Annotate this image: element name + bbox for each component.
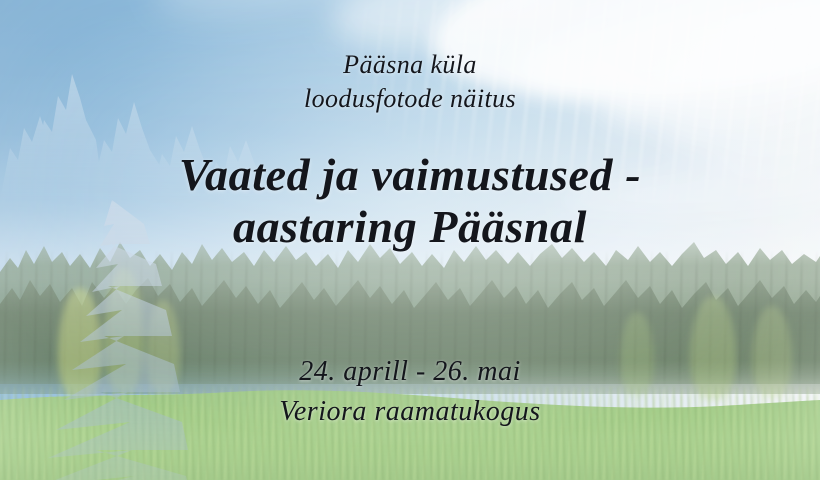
title-line-1: Vaated ja vaimustused - xyxy=(179,149,641,201)
kicker-line-1: Pääsna küla xyxy=(304,48,516,82)
poster-kicker: Pääsna küla loodusfotode näitus xyxy=(304,48,516,117)
kicker-line-2: loodusfotode näitus xyxy=(304,82,516,116)
poster-details: 24. aprill - 26. mai Veriora raamatukogu… xyxy=(279,352,540,432)
exhibition-dates: 24. aprill - 26. mai xyxy=(279,352,540,392)
title-line-2: aastaring Pääsnal xyxy=(179,201,641,253)
exhibition-venue: Veriora raamatukogus xyxy=(279,392,540,432)
poster-title: Vaated ja vaimustused - aastaring Pääsna… xyxy=(179,149,641,254)
poster-text-content: Pääsna küla loodusfotode näitus Vaated j… xyxy=(0,0,820,480)
exhibition-poster: Pääsna küla loodusfotode näitus Vaated j… xyxy=(0,0,820,480)
